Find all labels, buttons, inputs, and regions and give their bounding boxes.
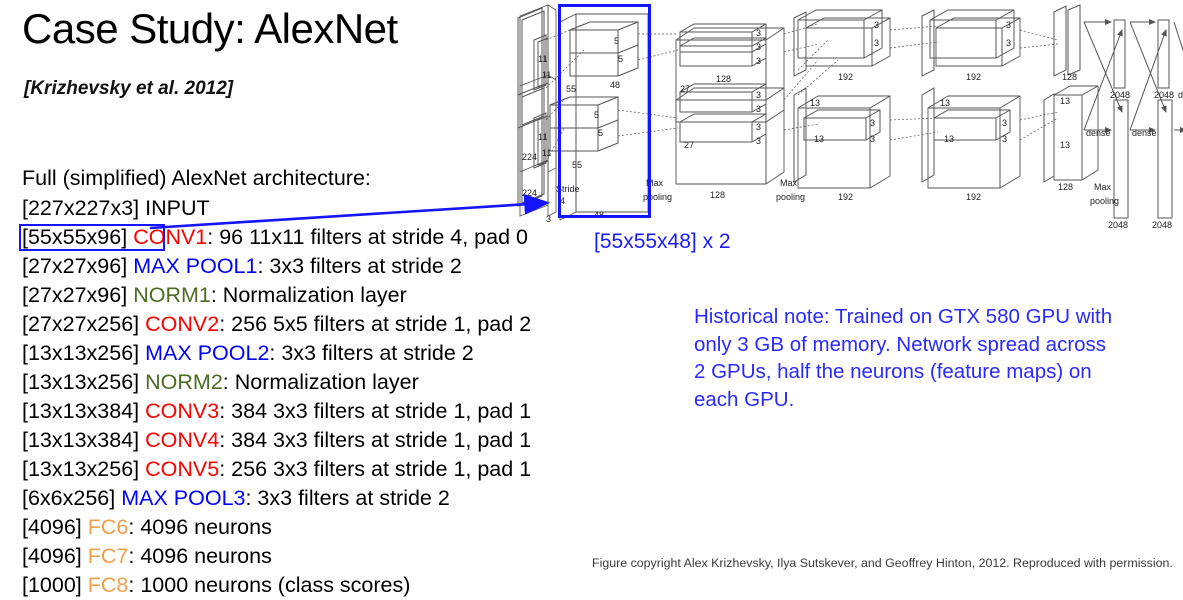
layer-name: NORM2 [145, 370, 223, 394]
svg-text:11: 11 [542, 148, 551, 158]
layer-shape: [227x227x3] [22, 196, 139, 220]
svg-text:11: 11 [538, 54, 547, 64]
layer-shape: [1000] [22, 573, 82, 597]
layer-name: CONV2 [145, 312, 219, 336]
conv1-shape-highlight-box [19, 224, 165, 251]
layer-name: MAX POOL3 [121, 486, 245, 510]
layer-description: : 1000 neurons (class scores) [128, 573, 410, 597]
svg-text:3: 3 [756, 90, 761, 100]
architecture-row: [4096] FC6: 4096 neurons [22, 513, 531, 542]
svg-text:dense: dense [1178, 90, 1183, 100]
layer-name: INPUT [145, 196, 210, 220]
paper-citation: [Krizhevsky et al. 2012] [24, 78, 233, 100]
architecture-row: [13x13x384] CONV4: 384 3x3 filters at st… [22, 426, 531, 455]
architecture-row: [27x27x256] CONV2: 256 5x5 filters at st… [22, 310, 531, 339]
layer-description: : 3x3 filters at stride 2 [269, 341, 473, 365]
layer-shape: [13x13x256] [22, 341, 139, 365]
svg-text:3: 3 [756, 122, 761, 132]
svg-text:2048: 2048 [1154, 90, 1174, 100]
layer-name: MAX POOL1 [133, 254, 257, 278]
architecture-row: [55x55x96] CONV1: 96 11x11 filters at st… [22, 223, 531, 252]
layer-shape: [27x27x96] [22, 254, 127, 278]
architecture-row: [27x27x96] MAX POOL1: 3x3 filters at str… [22, 252, 531, 281]
layer-description: : 384 3x3 filters at stride 1, pad 1 [219, 399, 531, 423]
historical-note: Historical note: Trained on GTX 580 GPU … [694, 303, 1114, 413]
layer-shape: [27x27x256] [22, 312, 139, 336]
svg-text:3: 3 [1002, 118, 1007, 128]
layer-shape: [13x13x384] [22, 428, 139, 452]
layer-name: MAX POOL2 [145, 341, 269, 365]
svg-text:3: 3 [874, 20, 879, 30]
svg-text:Max: Max [780, 178, 798, 188]
svg-text:128: 128 [710, 190, 725, 200]
svg-text:27: 27 [680, 84, 690, 94]
layer-description: : 3x3 filters at stride 2 [257, 254, 461, 278]
layer-description: : 4096 neurons [128, 544, 271, 568]
architecture-layer-list: [227x227x3] INPUT[55x55x96] CONV1: 96 11… [22, 165, 531, 600]
layer-name: CONV5 [145, 457, 219, 481]
svg-text:3: 3 [1002, 134, 1007, 144]
svg-text:13: 13 [1060, 96, 1070, 106]
svg-text:13: 13 [940, 98, 950, 108]
svg-text:27: 27 [684, 140, 694, 150]
layer-name: FC7 [88, 544, 129, 568]
layer-shape: [13x13x256] [22, 370, 139, 394]
svg-text:3: 3 [546, 214, 551, 224]
architecture-row: [4096] FC7: 4096 neurons [22, 542, 531, 571]
architecture-row: [13x13x256] CONV5: 256 3x3 filters at st… [22, 455, 531, 484]
layer-shape: [6x6x256] [22, 486, 115, 510]
svg-text:192: 192 [966, 72, 981, 82]
page-title: Case Study: AlexNet [22, 8, 398, 50]
svg-text:224: 224 [522, 188, 537, 198]
layer-shape: [4096] [22, 515, 82, 539]
architecture-heading-spacer [22, 165, 531, 194]
svg-text:pooling: pooling [1090, 196, 1119, 206]
svg-text:13: 13 [1060, 140, 1070, 150]
svg-text:3: 3 [1006, 38, 1011, 48]
conv1-crop-highlight-box [558, 4, 651, 218]
architecture-row: [13x13x256] NORM2: Normalization layer [22, 368, 531, 397]
svg-text:dense: dense [1086, 128, 1111, 138]
svg-text:dense: dense [1132, 128, 1157, 138]
layer-shape: [4096] [22, 544, 82, 568]
svg-text:224: 224 [522, 152, 537, 162]
svg-text:2048: 2048 [1110, 90, 1130, 100]
svg-text:3: 3 [870, 118, 875, 128]
svg-text:3: 3 [756, 42, 761, 52]
layer-description: : 3x3 filters at stride 2 [245, 486, 449, 510]
layer-name: CONV4 [145, 428, 219, 452]
layer-shape: [13x13x384] [22, 399, 139, 423]
layer-shape: [13x13x256] [22, 457, 139, 481]
svg-text:192: 192 [838, 192, 853, 202]
svg-text:11: 11 [538, 132, 547, 142]
svg-text:pooling: pooling [776, 192, 805, 202]
layer-description: : 256 3x3 filters at stride 1, pad 1 [219, 457, 531, 481]
svg-text:3: 3 [756, 28, 761, 38]
layer-name: FC6 [88, 515, 129, 539]
architecture-row: [27x27x96] NORM1: Normalization layer [22, 281, 531, 310]
layer-description: : 256 5x5 filters at stride 1, pad 2 [219, 312, 531, 336]
conv1-split-callout: [55x55x48] x 2 [594, 230, 731, 254]
svg-text:13: 13 [810, 98, 820, 108]
layer-name: NORM1 [133, 283, 211, 307]
architecture-row: [13x13x256] MAX POOL2: 3x3 filters at st… [22, 339, 531, 368]
svg-text:3: 3 [756, 104, 761, 114]
layer-shape: [27x27x96] [22, 283, 127, 307]
architecture-row: [13x13x384] CONV3: 384 3x3 filters at st… [22, 397, 531, 426]
figure-copyright: Figure copyright Alex Krizhevsky, Ilya S… [592, 556, 1173, 570]
layer-name: CONV3 [145, 399, 219, 423]
svg-text:13: 13 [944, 134, 954, 144]
svg-text:3: 3 [1006, 20, 1011, 30]
svg-text:11: 11 [542, 70, 551, 80]
svg-text:2048: 2048 [1152, 220, 1172, 228]
svg-text:3: 3 [870, 134, 875, 144]
layer-description: : 384 3x3 filters at stride 1, pad 1 [219, 428, 531, 452]
svg-text:128: 128 [1058, 182, 1073, 192]
layer-description: : Normalization layer [223, 370, 419, 394]
svg-text:2048: 2048 [1108, 220, 1128, 228]
svg-text:3: 3 [756, 136, 761, 146]
svg-text:128: 128 [1062, 72, 1077, 82]
svg-text:192: 192 [838, 72, 853, 82]
svg-text:192: 192 [966, 192, 981, 202]
svg-text:128: 128 [716, 74, 731, 84]
architecture-row: [227x227x3] INPUT [22, 194, 531, 223]
svg-text:3: 3 [756, 56, 761, 66]
svg-text:3: 3 [874, 38, 879, 48]
layer-description: : 4096 neurons [128, 515, 271, 539]
architecture-row: [6x6x256] MAX POOL3: 3x3 filters at stri… [22, 484, 531, 513]
layer-description: : Normalization layer [211, 283, 407, 307]
layer-name: FC8 [88, 573, 129, 597]
svg-text:13: 13 [814, 134, 824, 144]
svg-text:Max: Max [1094, 182, 1112, 192]
layer-description: : 96 11x11 filters at stride 4, pad 0 [207, 225, 528, 249]
